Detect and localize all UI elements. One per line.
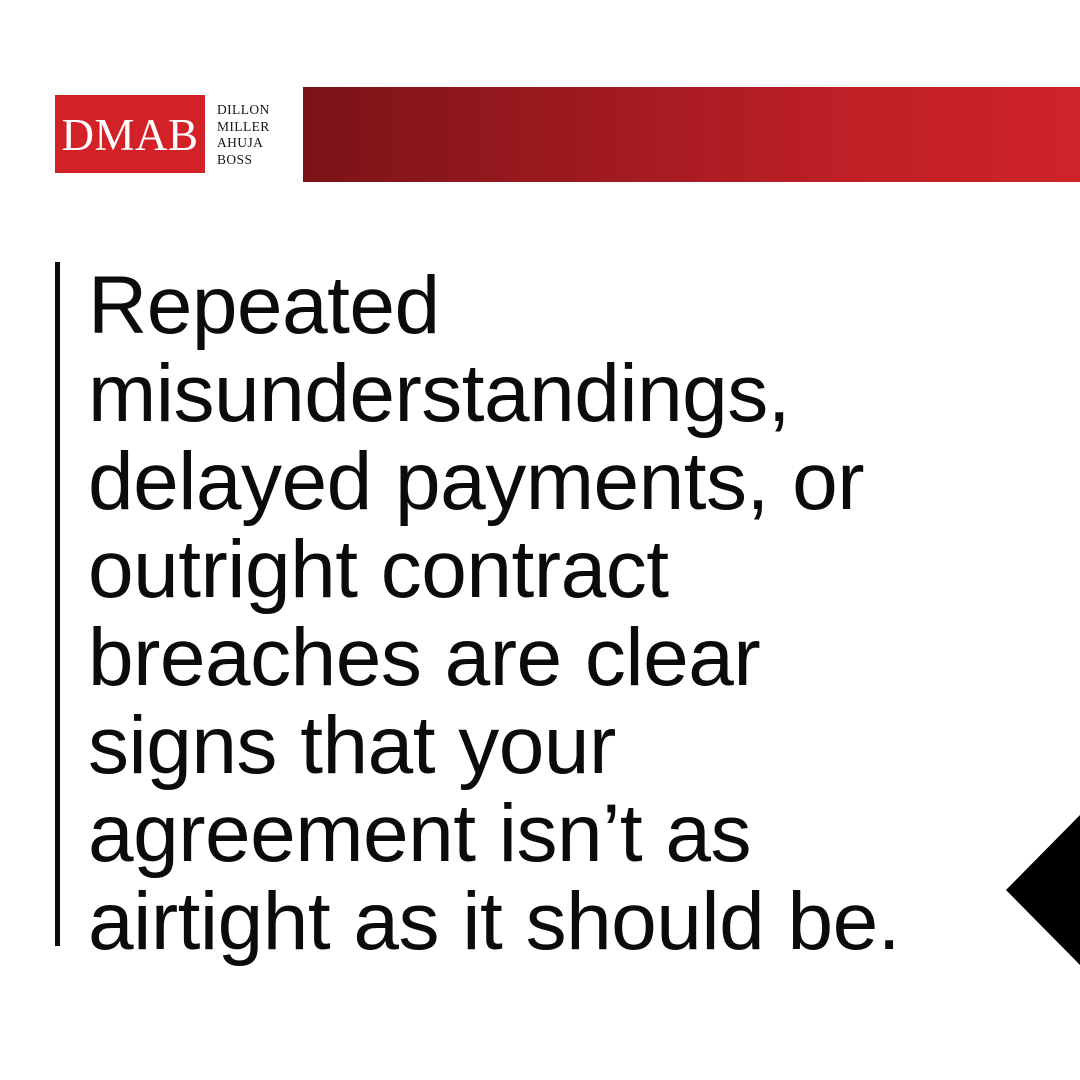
post-canvas: DMAB DILLON MILLER AHUJA BOSS Repeated m…: [0, 0, 1080, 1080]
logo-word-miller: MILLER: [217, 119, 270, 136]
logo-mark-text: DMAB: [61, 111, 198, 158]
dmab-logo[interactable]: DMAB DILLON MILLER AHUJA BOSS: [55, 95, 270, 173]
headline-block: Repeated misunderstandings, delayed paym…: [55, 262, 1040, 966]
logo-word-dillon: DILLON: [217, 102, 270, 119]
headline-text: Repeated misunderstandings, delayed paym…: [88, 262, 900, 966]
logo-word-boss: BOSS: [217, 152, 270, 169]
logo-wordmark: DILLON MILLER AHUJA BOSS: [217, 95, 270, 173]
logo-word-ahuja: AHUJA: [217, 135, 270, 152]
header-gradient-bar: [303, 87, 1080, 182]
accent-rule: [55, 262, 60, 946]
brand-header: DMAB DILLON MILLER AHUJA BOSS: [0, 0, 1080, 200]
logo-mark-box: DMAB: [55, 95, 205, 173]
